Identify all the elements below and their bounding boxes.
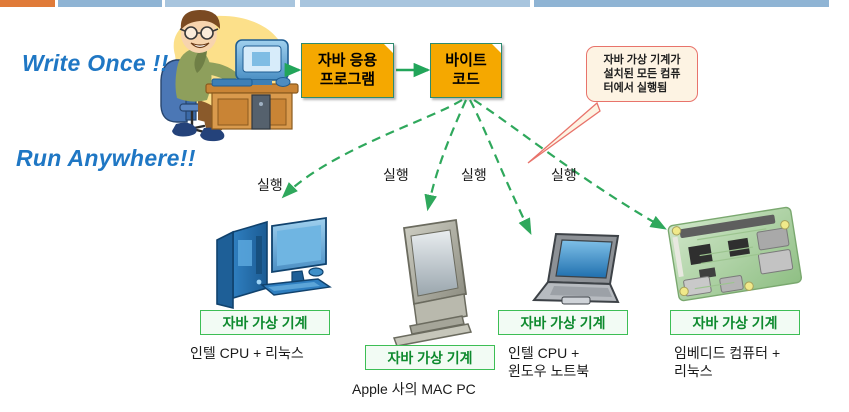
java-application-box: 자바 응용 프로그램 <box>301 43 394 98</box>
jvm-badge-intel-linux-desktop: 자바 가상 기계 <box>200 310 330 335</box>
jvm-badge-apple-mac: 자바 가상 기계 <box>365 345 495 370</box>
callout-text: 자바 가상 기계가 설치된 모든 컴퓨 터에서 실행됨 <box>604 53 681 95</box>
run-label-2: 실행 <box>383 165 409 185</box>
platform-caption-embedded-linux-board: 임베디드 컴퓨터 + 리눅스 <box>674 344 844 380</box>
run-label-1: 실행 <box>257 175 283 195</box>
imac-monitor-illustration <box>394 220 471 346</box>
desktop-pc-illustration <box>217 218 330 308</box>
headline-write-once: Write Once !! <box>22 50 169 77</box>
platform-caption-intel-windows-laptop: 인텔 CPU + 윈도우 노트북 <box>508 344 638 380</box>
platform-caption-apple-mac: Apple 사의 MAC PC <box>352 380 512 398</box>
arrow-bytecode-to-board <box>474 100 664 228</box>
run-label-3: 실행 <box>461 165 487 185</box>
arrow-bytecode-to-desktop <box>284 100 462 196</box>
corner-cut-icon <box>492 44 501 53</box>
java-application-label: 자바 응용 프로그램 <box>318 52 377 90</box>
laptop-illustration <box>534 234 618 304</box>
arrow-bytecode-to-mac <box>428 100 466 208</box>
run-label-4: 실행 <box>551 165 577 185</box>
person-illustration <box>161 10 298 141</box>
callout-bubble: 자바 가상 기계가 설치된 모든 컴퓨 터에서 실행됨 <box>586 46 698 102</box>
headline-run-anywhere: Run Anywhere!! <box>16 145 196 172</box>
bytecode-label: 바이트 코드 <box>445 52 486 90</box>
jvm-badge-embedded-linux-board: 자바 가상 기계 <box>670 310 800 335</box>
embedded-board-illustration <box>668 207 802 302</box>
jvm-badge-intel-windows-laptop: 자바 가상 기계 <box>498 310 628 335</box>
platform-caption-intel-linux-desktop: 인텔 CPU + 리눅스 <box>190 344 350 362</box>
bytecode-box: 바이트 코드 <box>430 43 502 98</box>
callout-tail <box>528 103 600 163</box>
corner-cut-icon <box>384 44 393 53</box>
